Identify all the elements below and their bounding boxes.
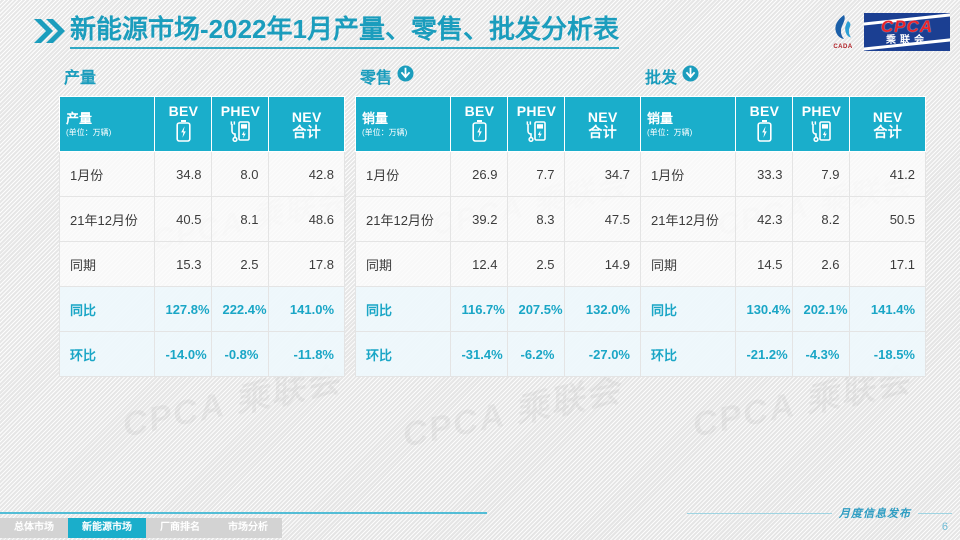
row-label: 环比: [60, 332, 155, 377]
row-label: 同期: [356, 242, 451, 287]
cell-phev: 2.5: [508, 242, 565, 287]
table-header-row: 销量 (单位：万辆) BEV: [641, 97, 926, 152]
table-row: 同期 12.4 2.5 14.9: [356, 242, 641, 287]
cell-phev: 207.5%: [508, 287, 565, 332]
table-block-production: 产量 产量 (单位：万辆) BEV: [59, 62, 345, 377]
charging-station-icon: [525, 120, 547, 145]
cell-bev: -14.0%: [155, 332, 212, 377]
circle-arrow-down-icon: [397, 65, 414, 87]
cell-bev: 116.7%: [451, 287, 508, 332]
cell-nev: 47.5: [565, 197, 641, 242]
column-header-nev-line1: NEV: [588, 110, 618, 124]
cell-nev: 17.8: [269, 242, 345, 287]
table-row: 同期 14.5 2.6 17.1: [641, 242, 926, 287]
cell-phev: -4.3%: [793, 332, 850, 377]
cell-nev: 141.4%: [850, 287, 926, 332]
column-header-nev-line2: 合计: [873, 125, 902, 139]
nav-tab-oem-ranking[interactable]: 厂商排名: [146, 518, 214, 538]
footer-brand: 月度信息发布: [687, 505, 952, 521]
column-header-label-main: 产量: [66, 111, 148, 127]
slide-header: 新能源市场-2022年1月产量、零售、批发分析表 CADA CPCA 乘联会: [0, 0, 960, 62]
column-header-bev: BEV: [451, 97, 508, 152]
column-header-label-unit: (单位：万辆): [66, 127, 148, 138]
column-header-nev-line1: NEV: [873, 110, 903, 124]
table-row: 1月份 26.9 7.7 34.7: [356, 152, 641, 197]
table-row: 环比 -31.4% -6.2% -27.0%: [356, 332, 641, 377]
cpca-flame-icon: CADA: [826, 13, 860, 51]
table-row: 21年12月份 40.5 8.1 48.6: [60, 197, 345, 242]
column-header-bev-label: BEV: [465, 103, 495, 119]
page-title-text: 新能源市场-2022年1月产量、零售、批发分析表: [70, 13, 619, 45]
column-header-bev: BEV: [736, 97, 793, 152]
column-header-bev-label: BEV: [750, 103, 780, 119]
cell-nev: 41.2: [850, 152, 926, 197]
cell-bev: -21.2%: [736, 332, 793, 377]
footer-divider: [0, 512, 487, 514]
column-header-label: 销量 (单位：万辆): [641, 97, 736, 152]
cell-bev: -31.4%: [451, 332, 508, 377]
table-row: 1月份 33.3 7.9 41.2: [641, 152, 926, 197]
circle-arrow-down-icon: [682, 65, 699, 87]
page-title: 新能源市场-2022年1月产量、零售、批发分析表: [70, 13, 619, 49]
cell-bev: 15.3: [155, 242, 212, 287]
column-header-label-unit: (单位：万辆): [362, 127, 444, 138]
table-row: 21年12月份 42.3 8.2 50.5: [641, 197, 926, 242]
charging-station-icon: [229, 120, 251, 145]
column-header-nev-line2: 合计: [588, 125, 617, 139]
row-label: 环比: [356, 332, 451, 377]
table-row: 同比 116.7% 207.5% 132.0%: [356, 287, 641, 332]
column-header-phev-label: PHEV: [517, 103, 556, 119]
table-header-row: 销量 (单位：万辆) BEV: [356, 97, 641, 152]
cell-bev: 14.5: [736, 242, 793, 287]
row-label: 同比: [641, 287, 736, 332]
column-header-phev: PHEV: [212, 97, 269, 152]
cell-nev: 48.6: [269, 197, 345, 242]
table-row: 21年12月份 39.2 8.3 47.5: [356, 197, 641, 242]
row-label: 1月份: [641, 152, 736, 197]
row-label: 21年12月份: [356, 197, 451, 242]
cell-nev: 50.5: [850, 197, 926, 242]
cell-nev: 14.9: [565, 242, 641, 287]
cell-nev: -18.5%: [850, 332, 926, 377]
cell-bev: 12.4: [451, 242, 508, 287]
block-title-production: 产量: [59, 62, 345, 90]
column-header-nev-line2: 合计: [292, 125, 321, 139]
cell-phev: 7.9: [793, 152, 850, 197]
cell-bev: 40.5: [155, 197, 212, 242]
row-label: 1月份: [356, 152, 451, 197]
cell-phev: 8.2: [793, 197, 850, 242]
table-row: 环比 -14.0% -0.8% -11.8%: [60, 332, 345, 377]
table-block-retail: 零售 销量 (单位：万辆) BEV: [355, 62, 641, 377]
block-title-wholesale: 批发: [640, 62, 926, 90]
footer-line-right: [918, 513, 952, 514]
column-header-phev-label: PHEV: [802, 103, 841, 119]
section-nav[interactable]: 总体市场 新能源市场 厂商排名 市场分析: [0, 518, 282, 538]
table-row: 同比 127.8% 222.4% 141.0%: [60, 287, 345, 332]
cell-phev: -6.2%: [508, 332, 565, 377]
cell-nev: 141.0%: [269, 287, 345, 332]
table-row: 同期 15.3 2.5 17.8: [60, 242, 345, 287]
cell-nev: 42.8: [269, 152, 345, 197]
cell-phev: -0.8%: [212, 332, 269, 377]
column-header-phev: PHEV: [793, 97, 850, 152]
cell-bev: 39.2: [451, 197, 508, 242]
battery-bolt-icon: [472, 120, 487, 145]
column-header-bev: BEV: [155, 97, 212, 152]
column-header-phev: PHEV: [508, 97, 565, 152]
cpca-cn-text: 乘联会: [886, 35, 928, 47]
cada-text: CADA: [833, 44, 852, 50]
cell-phev: 8.1: [212, 197, 269, 242]
cell-nev: 17.1: [850, 242, 926, 287]
column-header-label-main: 销量: [362, 111, 444, 127]
column-header-label-unit: (单位：万辆): [647, 127, 729, 138]
table-block-wholesale: 批发 销量 (单位：万辆) BEV: [640, 62, 926, 377]
table-header-row: 产量 (单位：万辆) BEV: [60, 97, 345, 152]
cell-bev: 127.8%: [155, 287, 212, 332]
cell-phev: 222.4%: [212, 287, 269, 332]
column-header-label: 销量 (单位：万辆): [356, 97, 451, 152]
row-label: 同比: [60, 287, 155, 332]
wholesale-table: 销量 (单位：万辆) BEV: [640, 96, 926, 377]
battery-bolt-icon: [757, 120, 772, 145]
row-label: 同期: [641, 242, 736, 287]
cell-nev: 34.7: [565, 152, 641, 197]
column-header-bev-label: BEV: [169, 103, 199, 119]
cell-phev: 202.1%: [793, 287, 850, 332]
cell-phev: 8.0: [212, 152, 269, 197]
double-chevron-right-icon: [33, 18, 65, 44]
cell-nev: -11.8%: [269, 332, 345, 377]
nav-tab-market-analysis[interactable]: 市场分析: [214, 518, 282, 538]
column-header-label: 产量 (单位：万辆): [60, 97, 155, 152]
column-header-nev: NEV 合计: [269, 97, 345, 152]
cell-bev: 34.8: [155, 152, 212, 197]
cell-bev: 26.9: [451, 152, 508, 197]
row-label: 21年12月份: [641, 197, 736, 242]
table-row: 环比 -21.2% -4.3% -18.5%: [641, 332, 926, 377]
block-title-retail: 零售: [355, 62, 641, 90]
charging-station-icon: [810, 120, 832, 145]
column-header-label-main: 销量: [647, 111, 729, 127]
cell-bev: 130.4%: [736, 287, 793, 332]
cell-phev: 2.5: [212, 242, 269, 287]
row-label: 同期: [60, 242, 155, 287]
retail-table: 销量 (单位：万辆) BEV: [355, 96, 641, 377]
nav-tab-overall-market[interactable]: 总体市场: [0, 518, 68, 538]
table-row: 同比 130.4% 202.1% 141.4%: [641, 287, 926, 332]
column-header-nev: NEV 合计: [850, 97, 926, 152]
cell-bev: 33.3: [736, 152, 793, 197]
nav-tab-nev-market[interactable]: 新能源市场: [68, 518, 146, 538]
production-table: 产量 (单位：万辆) BEV: [59, 96, 345, 377]
cell-phev: 8.3: [508, 197, 565, 242]
battery-bolt-icon: [176, 120, 191, 145]
cell-nev: 132.0%: [565, 287, 641, 332]
cell-phev: 7.7: [508, 152, 565, 197]
footer-line-left: [687, 513, 832, 514]
row-label: 1月份: [60, 152, 155, 197]
column-header-phev-label: PHEV: [221, 103, 260, 119]
block-title-label: 零售: [360, 64, 392, 88]
cpca-wordmark: CPCA 乘联会: [864, 13, 950, 51]
cell-phev: 2.6: [793, 242, 850, 287]
page-number: 6: [942, 521, 948, 533]
block-title-label: 批发: [645, 64, 677, 88]
row-label: 同比: [356, 287, 451, 332]
cell-bev: 42.3: [736, 197, 793, 242]
cpca-logo: CADA CPCA 乘联会: [826, 13, 950, 51]
row-label: 环比: [641, 332, 736, 377]
cpca-text: CPCA: [881, 18, 933, 35]
slide-canvas: CPCA 乘联会 CPCA 乘联会 CPCA 乘联会 CPCA 乘联会 CPCA…: [0, 0, 960, 540]
column-header-nev: NEV 合计: [565, 97, 641, 152]
footer-brand-text: 月度信息发布: [832, 505, 918, 521]
row-label: 21年12月份: [60, 197, 155, 242]
block-title-label: 产量: [64, 64, 96, 88]
cell-nev: -27.0%: [565, 332, 641, 377]
table-row: 1月份 34.8 8.0 42.8: [60, 152, 345, 197]
column-header-nev-line1: NEV: [292, 110, 322, 124]
